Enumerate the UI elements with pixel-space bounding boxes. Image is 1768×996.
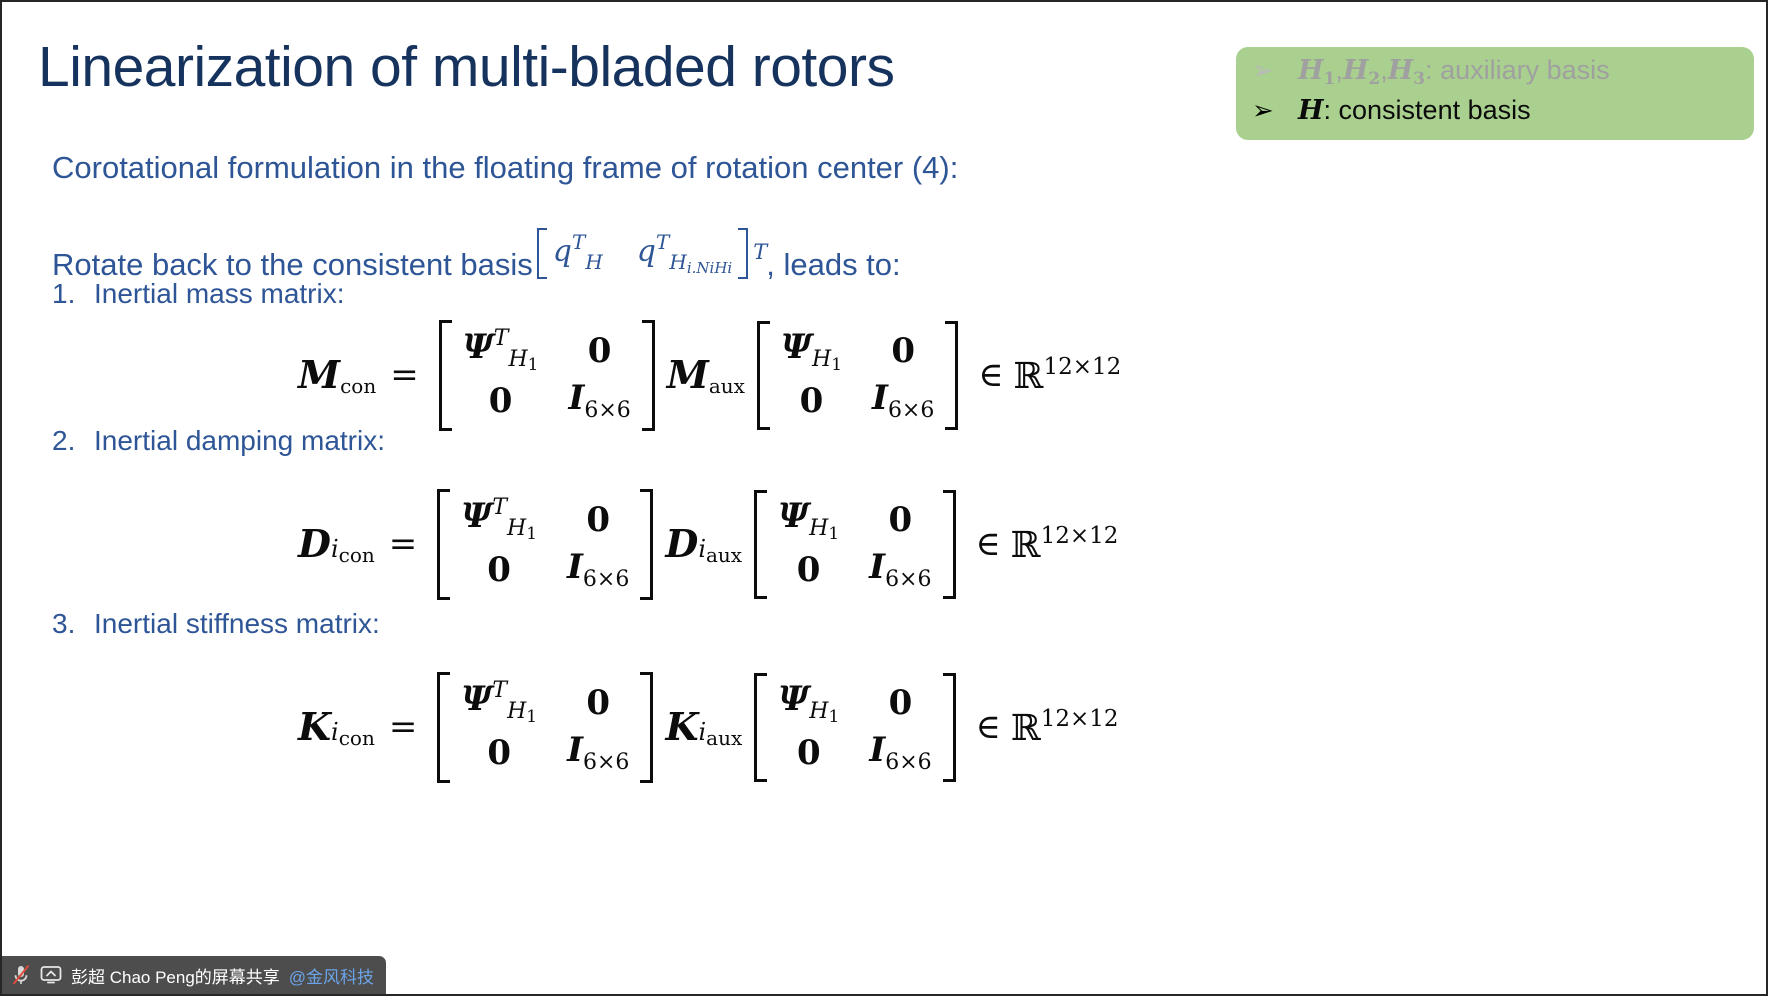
callout-sep-1: , (1335, 55, 1343, 85)
matrix-cell-a12: 0 (586, 501, 610, 539)
equals-sign: = (389, 707, 418, 747)
section-subhead: Corotational formulation in the floating… (52, 150, 958, 186)
equation-lhs: Mcon (298, 352, 376, 398)
matrix-cell-a11: ΨTH1 (463, 327, 539, 375)
matrix-cell-a11: ΨTH1 (461, 496, 537, 544)
list-item-label: Inertial stiffness matrix: (94, 608, 380, 640)
callout-sub-3: 3 (1413, 69, 1425, 89)
vector-entry-1: qTH (553, 230, 603, 274)
left-transform-matrix: ΨTH1 0 0 I6×6 (437, 489, 653, 600)
real-set-symbol: ℝ12×12 (1011, 523, 1119, 566)
right-transform-matrix: ΨH1 0 0 I6×6 (754, 673, 955, 783)
bracket-left (757, 321, 770, 431)
matrix-cell-a21: 0 (487, 734, 511, 772)
rotate-back-line: Rotate back to the consistent basis qTH … (52, 224, 901, 283)
callout-var-h3: H (1388, 55, 1414, 86)
callout-text-consistent: : consistent basis (1324, 95, 1531, 125)
bracket-right (943, 490, 956, 600)
matrix-cell-a12: 0 (888, 501, 912, 539)
matrix-cell-a22: I6×6 (869, 548, 931, 593)
matrix-cell-a22: I6×6 (567, 548, 629, 593)
matrix-cell-a22: I6×6 (567, 731, 629, 776)
bracket-left (437, 672, 450, 783)
page-title: Linearization of multi-bladed rotors (38, 38, 1168, 98)
real-set-symbol: ℝ12×12 (1014, 354, 1122, 397)
list-item-label: Inertial mass matrix: (94, 278, 345, 310)
callout-var-h2: H (1343, 55, 1369, 86)
matrix-cell-a11: ΨH1 (781, 328, 842, 375)
list-item: 1. Inertial mass matrix: (52, 278, 345, 310)
arrow-bullet-icon: ➢ (1252, 57, 1298, 83)
left-transform-matrix: ΨTH1 0 0 I6×6 (439, 320, 655, 431)
matrix-cell-a21: 0 (489, 382, 513, 420)
callout-var-h1: H (1298, 55, 1324, 86)
slide-canvas: Linearization of multi-bladed rotors ➢ H… (0, 0, 1768, 996)
list-item-number: 1. (52, 278, 94, 310)
bracket-left (754, 490, 767, 600)
legend-callout-box: ➢ H1,H2,H3: auxiliary basis ➢ H: consist… (1236, 47, 1754, 140)
arrow-bullet-icon: ➢ (1252, 97, 1298, 123)
real-set-symbol: ℝ12×12 (1011, 706, 1119, 749)
equals-sign: = (389, 524, 418, 564)
equation-lhs: Dicon (298, 521, 375, 567)
equation-lhs: Kicon (298, 704, 375, 750)
member-symbol: ∈ (976, 707, 1001, 747)
matrix-cell-a22: I6×6 (869, 731, 931, 776)
list-item-number: 3. (52, 608, 94, 640)
microphone-muted-icon[interactable] (11, 964, 31, 986)
bracket-right (738, 228, 748, 279)
vector-entry-2: qTHi.NiHi (637, 230, 732, 277)
bracket-right (640, 672, 653, 783)
matrix-cell-a22: I6×6 (568, 379, 630, 424)
matrix-cell-a12: 0 (588, 332, 612, 370)
matrix-cell-a21: 0 (797, 734, 821, 772)
left-transform-matrix: ΨTH1 0 0 I6×6 (437, 672, 653, 783)
share-owner-label: 彭超 Chao Peng的屏幕共享 (71, 963, 280, 988)
member-symbol: ∈ (976, 524, 1001, 564)
callout-sub-1: 1 (1324, 69, 1336, 89)
equation-inertial-mass-matrix: Mcon = ΨTH1 0 0 I6×6 Maux ΨH1 0 0 I6×6 (298, 320, 1121, 431)
matrix-cell-a12: 0 (889, 684, 913, 722)
equation-mid-operand: Kiaux (665, 704, 742, 750)
matrix-cell-a21: 0 (487, 551, 511, 589)
equation-inertial-stiffness-matrix: Kicon = ΨTH1 0 0 I6×6 Kiaux ΨH1 0 0 I6×6 (298, 672, 1119, 783)
callout-text-auxiliary: : auxiliary basis (1425, 55, 1610, 85)
matrix-cell-a12: 0 (586, 684, 610, 722)
equation-inertial-damping-matrix: Dicon = ΨTH1 0 0 I6×6 Diaux ΨH1 0 0 I6×6 (298, 489, 1118, 600)
callout-sep-2: , (1380, 55, 1388, 85)
bracket-left (437, 489, 450, 600)
bracket-left (439, 320, 452, 431)
callout-sub-2: 2 (1368, 69, 1380, 89)
share-org-label: @金风科技 (289, 963, 374, 988)
equation-mid-operand: Diaux (665, 521, 742, 567)
callout-item-consistent-basis: ➢ H: consistent basis (1252, 95, 1744, 135)
callout-var-h: H (1298, 95, 1324, 126)
bracket-left (537, 228, 547, 279)
bracket-right (943, 673, 956, 783)
rotate-back-suffix: , leads to: (766, 247, 900, 283)
matrix-cell-a21: 0 (797, 551, 821, 589)
bracket-right (945, 321, 958, 431)
list-item-number: 2. (52, 425, 94, 457)
right-transform-matrix: ΨH1 0 0 I6×6 (754, 490, 955, 600)
callout-item-auxiliary-basis: ➢ H1,H2,H3: auxiliary basis (1252, 55, 1744, 95)
member-symbol: ∈ (978, 355, 1003, 395)
screen-share-bar[interactable]: 彭超 Chao Peng的屏幕共享 @金风科技 (2, 956, 386, 994)
inline-vector-expression: qTH qTHi.NiHi (537, 228, 748, 279)
matrix-cell-a22: I6×6 (872, 379, 934, 424)
equation-mid-operand: Maux (667, 352, 745, 398)
matrix-cell-a11: ΨH1 (778, 680, 839, 727)
list-item: 3. Inertial stiffness matrix: (52, 608, 380, 640)
screen-share-icon[interactable] (40, 965, 62, 985)
equals-sign: = (390, 355, 419, 395)
matrix-cell-a11: ΨTH1 (461, 679, 537, 727)
bracket-right (642, 320, 655, 431)
right-transform-matrix: ΨH1 0 0 I6×6 (757, 321, 958, 431)
transpose-superscript: T (753, 240, 767, 264)
matrix-cell-a11: ΨH1 (778, 497, 839, 544)
bracket-left (754, 673, 767, 783)
matrix-cell-a21: 0 (800, 382, 824, 420)
bracket-right (640, 489, 653, 600)
matrix-cell-a12: 0 (891, 332, 915, 370)
